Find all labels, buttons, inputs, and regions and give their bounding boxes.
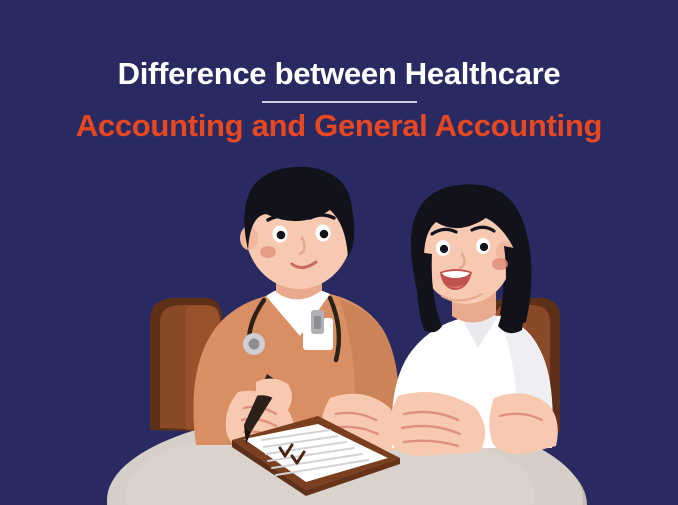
heading-block: Difference between Healthcare Accounting…: [0, 0, 678, 143]
title-divider: [262, 101, 417, 103]
poster-canvas: Difference between Healthcare Accounting…: [0, 0, 678, 505]
title-line-2: Accounting and General Accounting: [0, 109, 678, 144]
title-line-1: Difference between Healthcare: [0, 0, 678, 92]
